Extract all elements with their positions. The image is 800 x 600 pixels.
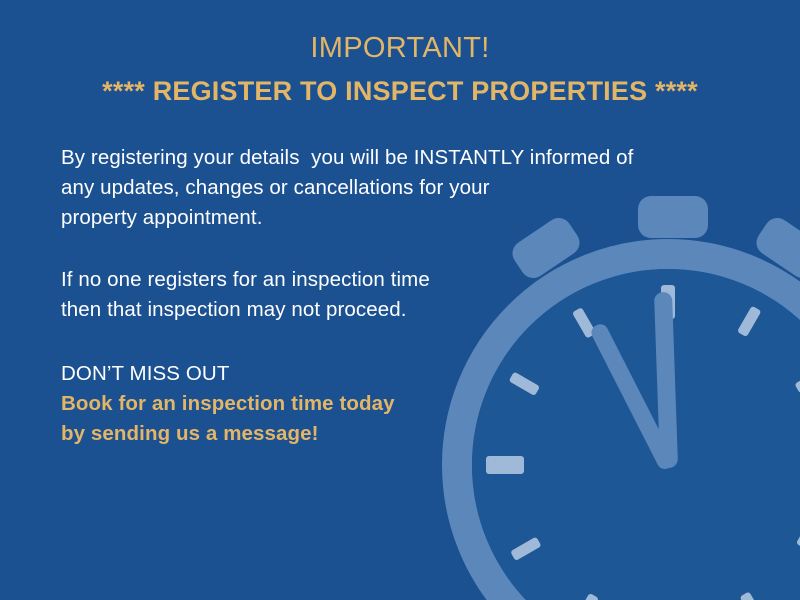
paragraph-dont-miss-out: DON’T MISS OUT bbox=[61, 359, 721, 389]
paragraph-warning: If no one registers for an inspection ti… bbox=[61, 265, 721, 325]
call-to-action-line-1: Book for an inspection time today bbox=[61, 389, 721, 419]
paragraph-benefits: By registering your details you will be … bbox=[61, 143, 721, 233]
page-title: IMPORTANT! bbox=[0, 30, 800, 66]
slide-canvas: IMPORTANT! **** REGISTER TO INSPECT PROP… bbox=[0, 0, 800, 600]
body-copy: By registering your details you will be … bbox=[61, 143, 721, 449]
clock-lug-right bbox=[751, 213, 800, 283]
call-to-action-line-2: by sending us a message! bbox=[61, 419, 721, 449]
heading-block: IMPORTANT! **** REGISTER TO INSPECT PROP… bbox=[0, 30, 800, 108]
page-subtitle: **** REGISTER TO INSPECT PROPERTIES **** bbox=[0, 74, 800, 108]
